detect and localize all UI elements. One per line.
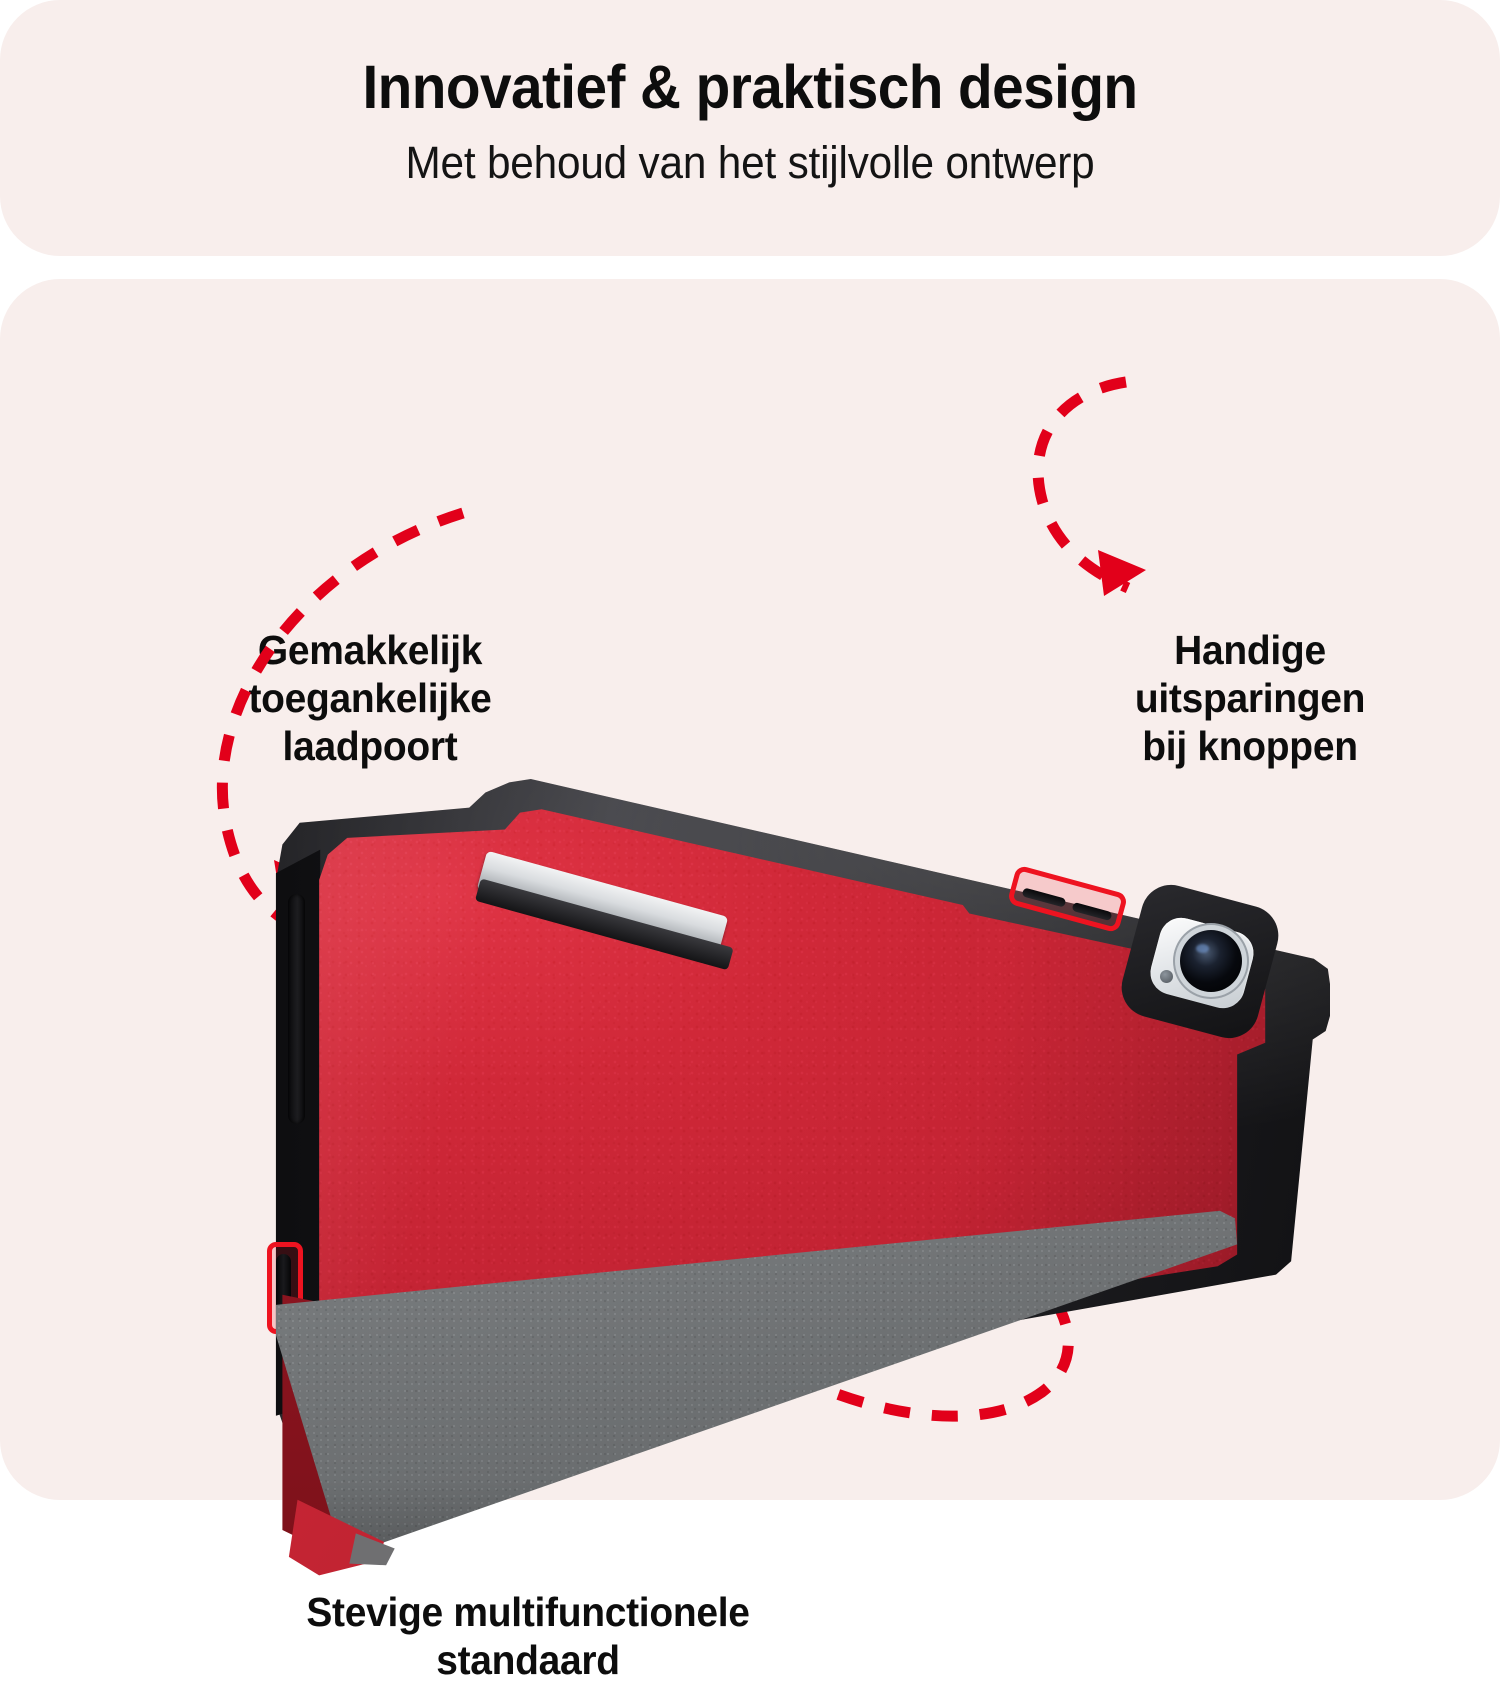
page-subtitle: Met behoud van het stijlvolle ontwerp [45,137,1455,189]
product-image [250,774,1330,1614]
camera-flash-icon [1160,970,1173,983]
header-panel: Innovatief & praktisch design Met behoud… [0,0,1500,256]
callout-stand-line-2: standaard [167,1637,889,1685]
body-panel: Gemakkelijk toegankelijke laadpoort Hand… [0,279,1500,1500]
callout-charging-port-line-3: laadpoort [76,723,665,771]
callout-charging-port-line-2: toegankelijke [76,675,665,723]
speaker-grille-cutout [288,894,305,1124]
camera-lens-icon [1180,930,1242,992]
callout-button-cutouts-line-3: bij knoppen [1046,723,1455,771]
callout-button-cutouts-line-2: uitsparingen [1046,675,1455,723]
callout-button-cutouts-line-1: Handige [1046,627,1455,675]
callout-charging-port: Gemakkelijk toegankelijke laadpoort [76,627,665,771]
callout-button-cutouts: Handige uitsparingen bij knoppen [1046,627,1455,771]
callout-charging-port-line-1: Gemakkelijk [76,627,665,675]
page-title: Innovatief & praktisch design [53,52,1448,122]
infographic-canvas: Innovatief & praktisch design Met behoud… [0,0,1500,1500]
